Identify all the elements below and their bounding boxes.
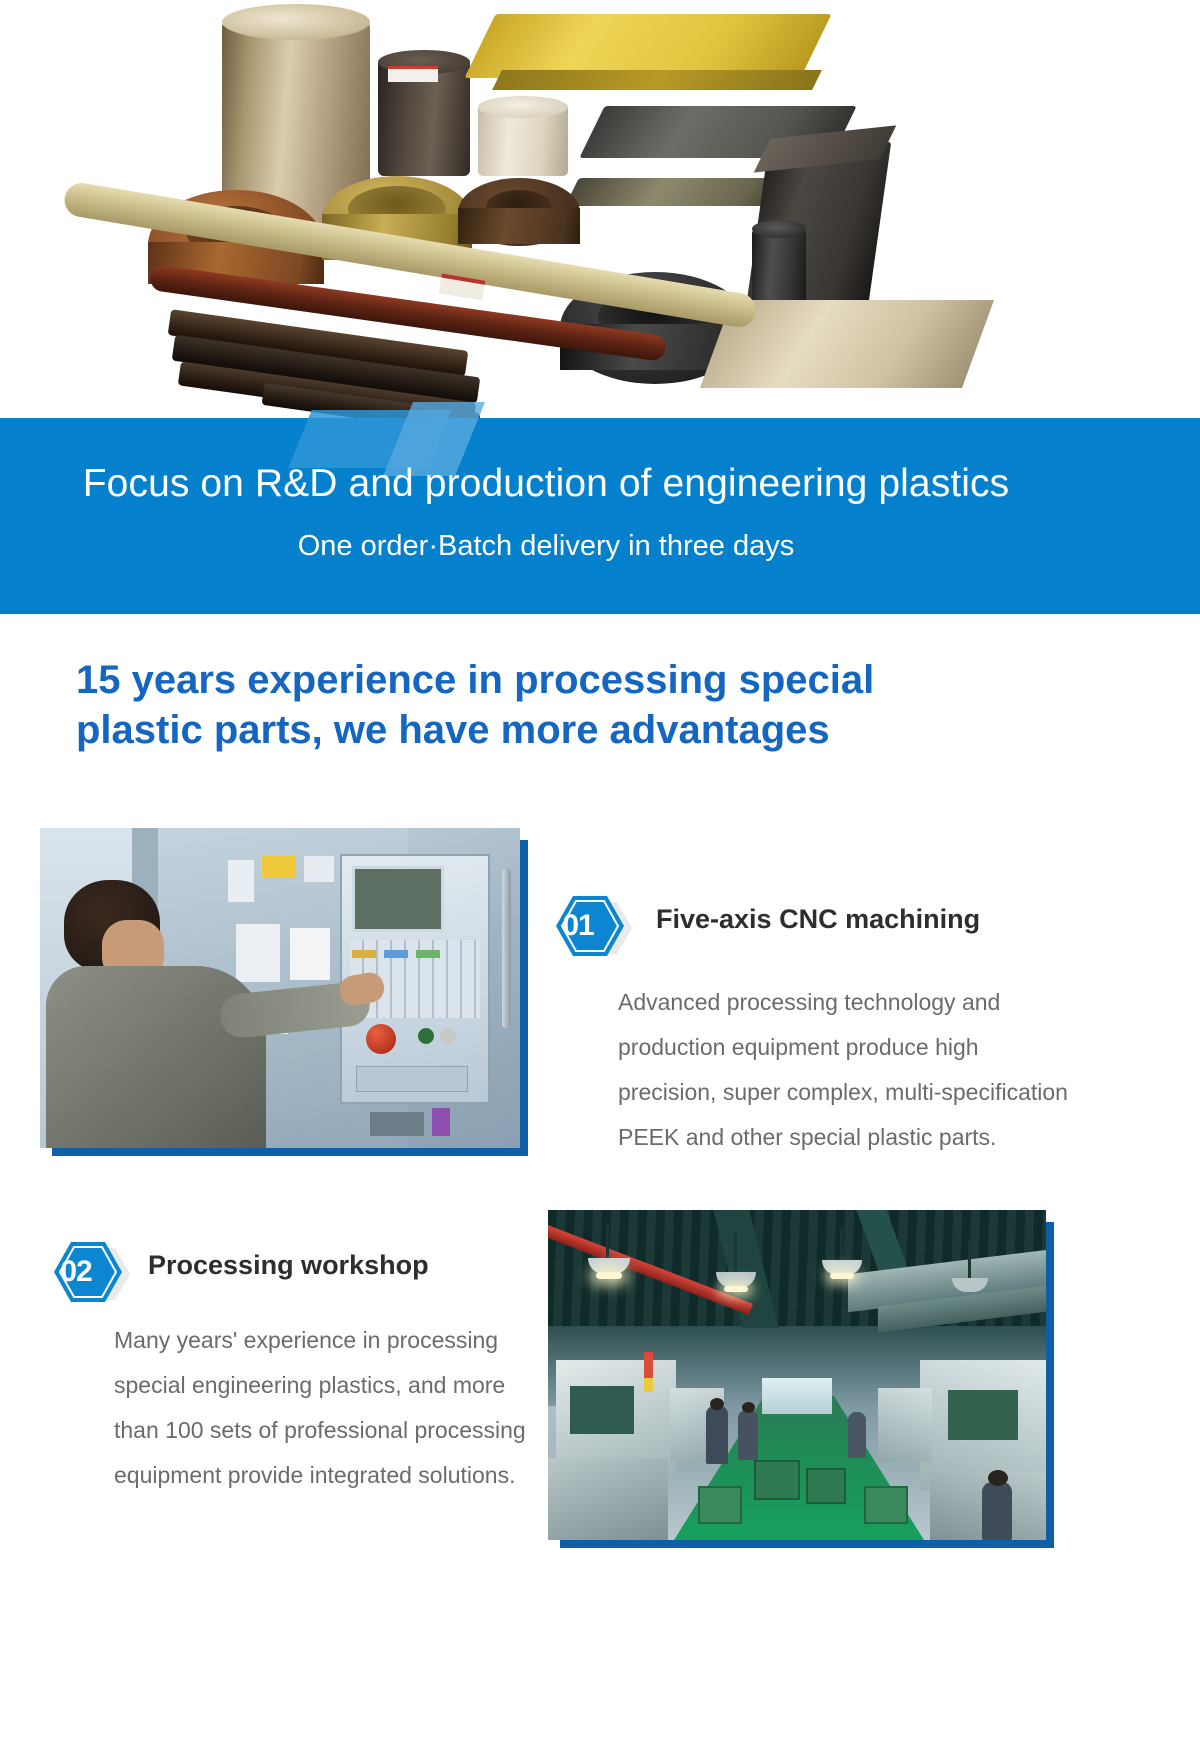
hero-part-black-rod-top: [752, 220, 806, 238]
banner-subheadline: One order·Batch delivery in three days: [0, 530, 1092, 563]
feature-2-body: Many years' experience in processing spe…: [114, 1318, 536, 1498]
hero-part-label-white: [388, 66, 438, 82]
feature-1-text: 01 Five-axis CNC machining Advanced proc…: [538, 890, 1078, 1160]
banner-headline: Focus on R&D and production of engineeri…: [0, 462, 1092, 506]
feature-1-photo: [40, 828, 520, 1148]
hero-stage: [0, 0, 1200, 420]
hero-part-cream-cylinder-top: [478, 96, 568, 118]
hero-part-yellow-slab-edge: [492, 70, 822, 90]
feature-2-badge-row: 02 Processing workshop: [36, 1236, 536, 1308]
hero-part-yellow-slab: [464, 14, 831, 78]
number-badge-icon: 01: [538, 890, 626, 962]
feature-2-number: 02: [36, 1236, 116, 1308]
feature-1-title: Five-axis CNC machining: [656, 904, 980, 935]
page-title: 15 years experience in processing specia…: [76, 655, 1086, 755]
feature-1-body: Advanced processing technology and produ…: [618, 980, 1078, 1160]
headline-banner: Focus on R&D and production of engineeri…: [0, 418, 1200, 614]
hero-image: [0, 0, 1200, 420]
page-title-line-1: 15 years experience in processing specia…: [76, 655, 1086, 705]
product-feature-page: Focus on R&D and production of engineeri…: [0, 0, 1200, 1752]
feature-1-photo-frame: [40, 828, 520, 1148]
feature-2-text: 02 Processing workshop Many years' exper…: [36, 1236, 536, 1498]
hero-part-large-cylinder-top: [222, 4, 370, 40]
feature-2-photo: [548, 1210, 1046, 1540]
feature-2-photo-frame: [548, 1210, 1046, 1540]
number-badge-icon: 02: [36, 1236, 124, 1308]
feature-1-number: 01: [538, 890, 618, 962]
feature-1-badge-row: 01 Five-axis CNC machining: [538, 890, 1078, 962]
page-title-line-2: plastic parts, we have more advantages: [76, 705, 1086, 755]
hero-part-brown-ring-wall: [458, 208, 580, 244]
feature-2-title: Processing workshop: [148, 1250, 429, 1281]
